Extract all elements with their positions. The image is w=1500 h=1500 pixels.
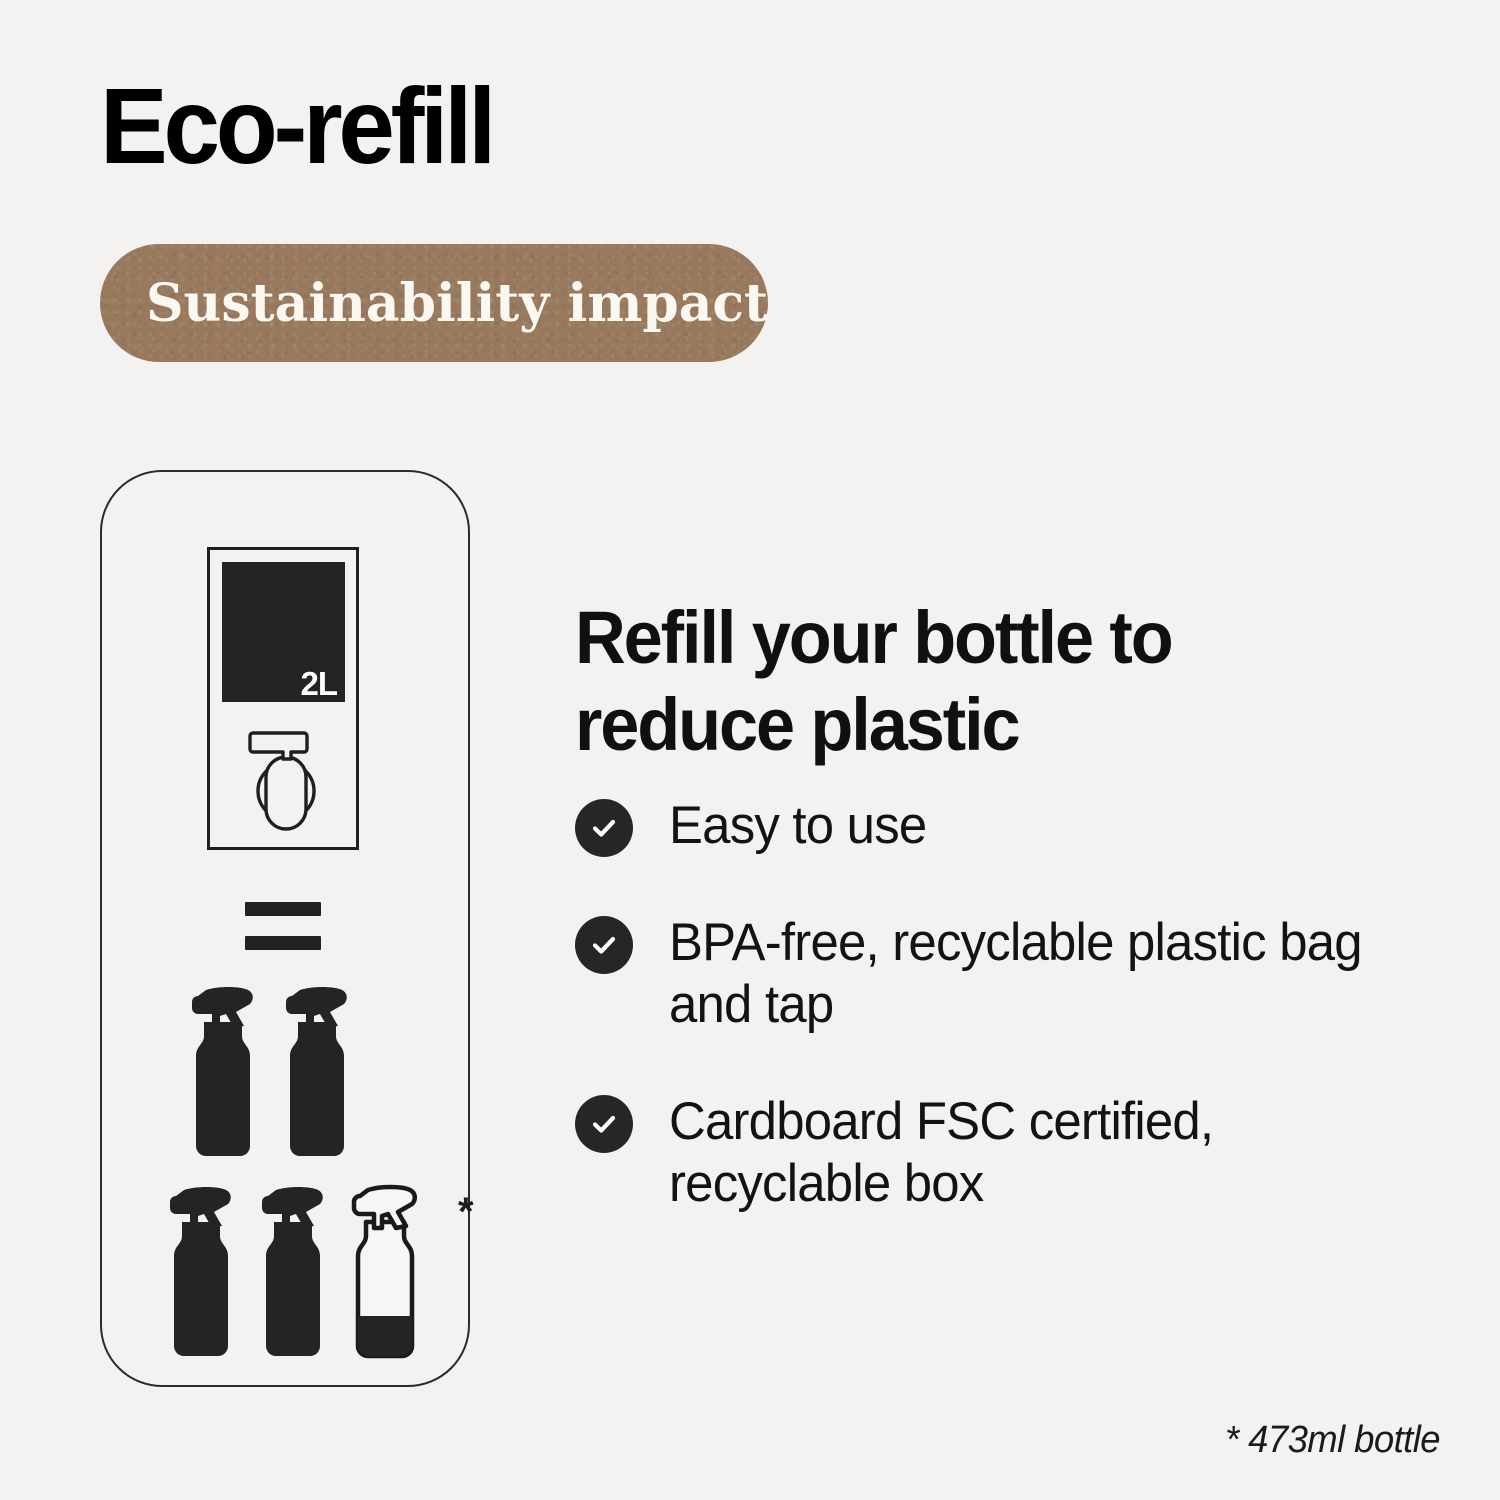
list-item: Cardboard FSC certified, recyclable box [575, 1091, 1435, 1216]
benefit-label: BPA-free, recyclable plastic bag and tap [669, 912, 1404, 1037]
status-badge-label: Sustainability impact [146, 273, 768, 334]
equals-bar-bottom [245, 936, 321, 950]
volume-label: 2L [300, 667, 337, 700]
spray-bottle-icon [254, 1184, 332, 1359]
check-circle-icon [575, 916, 633, 974]
refill-equation-illustration: 2L [100, 470, 470, 1387]
footnote-text: * 473ml bottle [1225, 1419, 1440, 1462]
equals-icon [245, 902, 321, 950]
check-circle-icon [575, 799, 633, 857]
spray-bottle-icon-partial [346, 1184, 424, 1359]
content-heading: Refill your bottle to reduce plastic [575, 595, 1326, 768]
tap-icon [238, 725, 334, 835]
benefits-list: Easy to use BPA-free, recyclable plastic… [575, 795, 1435, 1270]
list-item: Easy to use [575, 795, 1435, 858]
spray-bottle-icon [184, 984, 262, 1159]
footnote-asterisk: * [458, 1192, 474, 1232]
benefit-label: Easy to use [669, 795, 926, 858]
bottle-row-bottom: * [162, 1184, 424, 1359]
refill-bag-fill: 2L [222, 562, 345, 702]
spray-bottle-icon [278, 984, 356, 1159]
list-item: BPA-free, recyclable plastic bag and tap [575, 912, 1435, 1037]
bottle-row-top [184, 984, 356, 1159]
check-circle-icon [575, 1095, 633, 1153]
equals-bar-top [245, 902, 321, 916]
spray-bottle-icon [162, 1184, 240, 1359]
page-title: Eco-refill [100, 72, 492, 180]
status-badge-sustainability-impact: Sustainability impact [100, 244, 768, 362]
benefit-label: Cardboard FSC certified, recyclable box [669, 1091, 1404, 1216]
refill-box-icon: 2L [207, 547, 359, 850]
